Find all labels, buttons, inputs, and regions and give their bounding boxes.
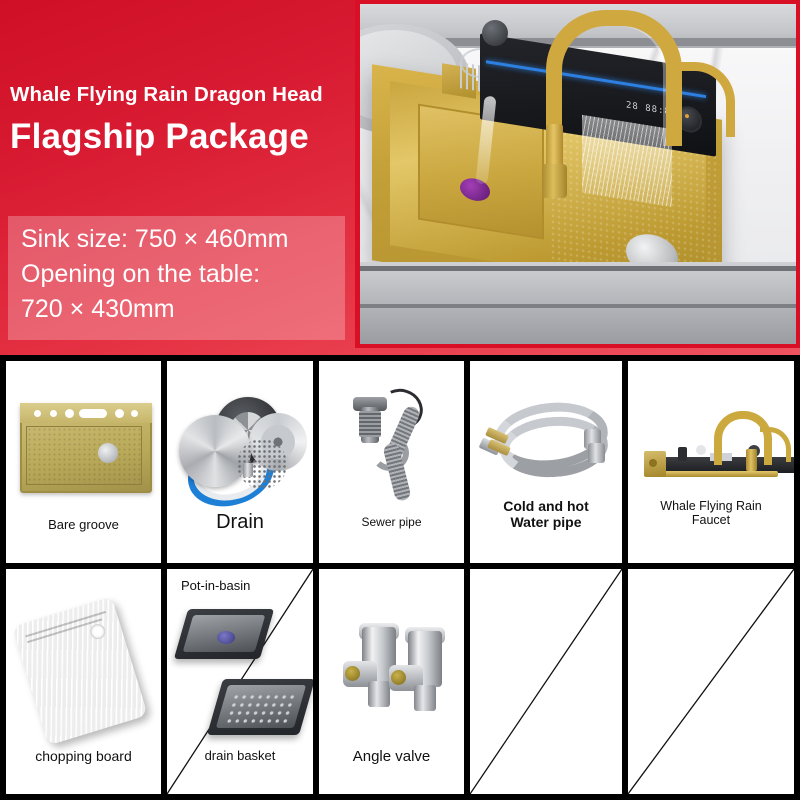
pot-in-basin-product-icon [181, 609, 267, 659]
accessory-cell-sewer-pipe[interactable]: Sewer pipe [319, 361, 464, 563]
angle-valve-product-icon-right [395, 631, 455, 721]
accessory-cell-faucet[interactable]: Whale Flying Rain Faucet [628, 361, 794, 563]
accessory-label-chopping-board: chopping board [6, 749, 161, 765]
accessory-grid: Bare groove Drain [0, 355, 800, 800]
lower-cabinet-edge-bottom [360, 304, 796, 308]
accessory-grid-row-1: Bare groove Drain [0, 361, 800, 563]
accessory-cell-basin-basket[interactable]: Pot-in-basin drain basket [167, 569, 313, 794]
lower-cabinet [360, 262, 796, 344]
product-photo-frame: 28 88:88 [355, 0, 800, 348]
spec-opening-size: 720 × 430mm [21, 295, 175, 324]
accessory-cell-empty-2[interactable] [628, 569, 794, 794]
accessory-cell-water-pipe[interactable]: Cold and hot Water pipe [470, 361, 622, 563]
drain-product-icon [167, 391, 313, 501]
accessory-label-faucet: Whale Flying Rain Faucet [628, 499, 794, 527]
panel-soap-dispenser-knob [482, 20, 508, 46]
spec-opening-label: Opening on the table: [21, 260, 260, 289]
accessory-grid-row-2: chopping board Pot-in-basin dra [0, 569, 800, 794]
accessory-label-drain: Drain [167, 511, 313, 533]
sink-product-icon [20, 403, 152, 493]
water-pipe-product-icon [484, 397, 608, 481]
accessory-cell-drain[interactable]: Drain [167, 361, 313, 563]
lower-cabinet-edge-top [360, 266, 796, 271]
gold-faucet-spray-head [542, 164, 567, 198]
accessory-label-drain-basket: drain basket [167, 749, 313, 764]
faucet-product-icon [640, 401, 786, 491]
diagonal-strikethrough-icon [470, 569, 622, 794]
package-subtitle: Whale Flying Rain Dragon Head [10, 83, 355, 107]
diagonal-strikethrough-icon-2 [628, 569, 794, 794]
accessory-label-water-pipe: Cold and hot Water pipe [470, 499, 622, 530]
accessory-label-sewer-pipe: Sewer pipe [319, 516, 464, 529]
hero-banner: Whale Flying Rain Dragon Head Flagship P… [0, 0, 800, 355]
specification-panel: Sink size: 750 × 460mm Opening on the ta… [8, 216, 345, 340]
product-package-infographic: Whale Flying Rain Dragon Head Flagship P… [0, 0, 800, 800]
accessory-cell-bare-groove[interactable]: Bare groove [6, 361, 161, 563]
package-title: Flagship Package [10, 117, 355, 157]
accessory-cell-chopping-board[interactable]: chopping board [6, 569, 161, 794]
gold-faucet-stem [546, 124, 563, 168]
hero-text-column: Whale Flying Rain Dragon Head Flagship P… [0, 0, 360, 355]
gold-faucet-arc [546, 10, 682, 146]
product-photo: 28 88:88 [360, 4, 796, 344]
drain-basket-product-icon [215, 679, 307, 735]
accessory-label-bare-groove: Bare groove [6, 518, 161, 533]
accessory-label-pot-in-basin: Pot-in-basin [167, 579, 250, 594]
sewer-pipe-product-icon [347, 391, 443, 501]
accessory-cell-empty-1[interactable] [470, 569, 622, 794]
accessory-cell-angle-valve[interactable]: Angle valve [319, 569, 464, 794]
spec-sink-size: Sink size: 750 × 460mm [21, 225, 289, 254]
accessory-label-angle-valve: Angle valve [319, 749, 464, 766]
